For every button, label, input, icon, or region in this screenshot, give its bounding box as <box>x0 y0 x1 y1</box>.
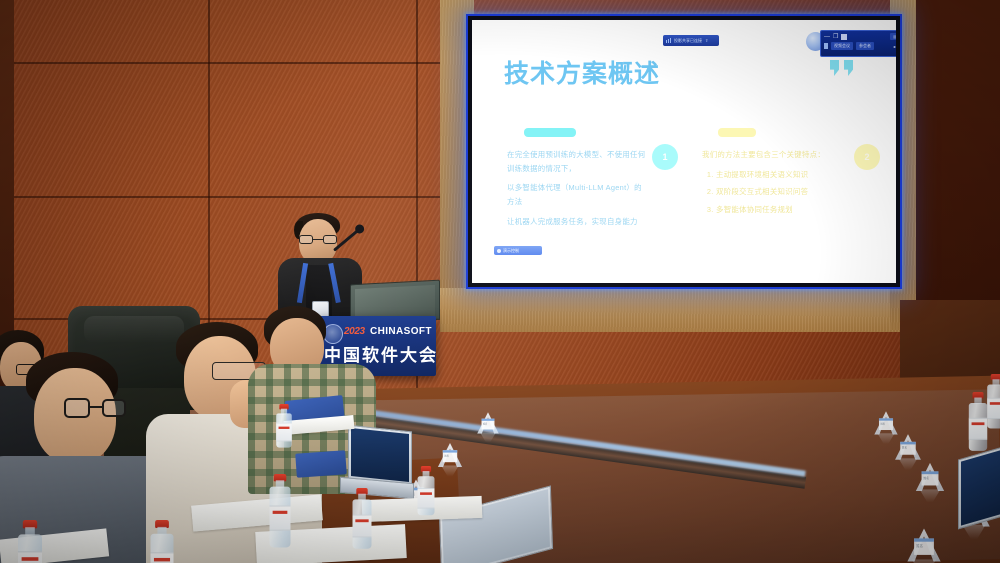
blue-notebook[interactable] <box>295 450 347 477</box>
widget-menu-icon[interactable]: ▤ <box>890 33 896 40</box>
nameplate-card: 姓名 <box>443 450 457 462</box>
glasses-icon <box>298 235 338 244</box>
restore-button[interactable]: ❐ <box>833 34 838 40</box>
video-meeting-chip[interactable]: 视频会议 <box>831 42 853 50</box>
volume-icon[interactable]: ◂◂ <box>890 43 896 50</box>
wall-dark-panel <box>916 0 1000 300</box>
list-item: 双阶段交互式相关知识问答 <box>716 185 830 199</box>
slide-title: 技术方案概述 <box>504 54 660 90</box>
screen-share-status-label: 投影共享已连接 <box>674 38 702 44</box>
widget-toolbar: 视频会议 参会者 ◂◂ <box>824 42 896 50</box>
slide-feature-list: 主动提取环境相关语义知识 双阶段交互式相关知识问答 多智能体协同任务规划 <box>702 168 830 217</box>
close-button[interactable] <box>841 34 847 40</box>
list-item: 主动提取环境相关语义知识 <box>716 168 830 182</box>
microphone-icon[interactable] <box>824 43 828 49</box>
accent-bar-right <box>718 128 756 137</box>
screen-share-status-bar[interactable]: 投影共享已连接 ⇪ <box>663 35 719 46</box>
presentation-control-button[interactable]: 演示控制 <box>494 246 542 255</box>
signal-bars-icon <box>666 38 671 43</box>
badge-number-1: 1 <box>652 144 678 170</box>
slide-paragraph: 让机器人完成服务任务，实现自身能力 <box>507 215 647 229</box>
glasses-icon <box>64 398 126 418</box>
participants-chip[interactable]: 参会者 <box>856 42 874 50</box>
nameplate: 姓名 <box>436 443 465 467</box>
slide-canvas: 技术方案概述 1 2 在完全使用预训练的大模型、不使用任何训练数据的情况下， 以… <box>472 20 896 283</box>
nameplate: 姓名 <box>904 529 944 562</box>
wall-seam <box>208 0 210 330</box>
nameplate-card: 姓名 <box>914 538 934 555</box>
slide-paragraph: 以多智能体代理（Multi-LLM Agent）的方法 <box>507 181 647 208</box>
nameplate-card: 姓名 <box>922 471 939 485</box>
widget-titlebar: — ❐ ▤ <box>824 33 896 40</box>
nameplate: 姓名 <box>913 463 947 491</box>
slide-column-left: 在完全使用预训练的大模型、不使用任何训练数据的情况下， 以多智能体代理（Mult… <box>507 148 647 234</box>
attendee-laptop[interactable] <box>340 428 412 502</box>
nameplate-card: 姓名 <box>482 419 495 430</box>
podium-english-title: CHINASOFT <box>370 326 432 337</box>
nameplate-card: 姓名 <box>879 418 893 430</box>
quote-mark-decoration <box>830 60 853 76</box>
slide-lead-text: 我们的方法主要包含三个关键特点： <box>702 148 830 162</box>
record-dot-icon <box>497 249 501 253</box>
list-item: 多智能体协同任务规划 <box>716 203 830 217</box>
presentation-control-label: 演示控制 <box>503 248 519 254</box>
nameplate: 姓名 <box>893 434 924 460</box>
quote-glyph <box>844 60 853 76</box>
conference-room-photo: 技术方案概述 1 2 在完全使用预训练的大模型、不使用任何训练数据的情况下， 以… <box>0 0 1000 563</box>
display-trim-bottom <box>440 288 920 332</box>
meeting-control-widget[interactable]: — ❐ ▤ 视频会议 参会者 ◂◂ <box>820 30 896 57</box>
quote-glyph <box>830 60 839 76</box>
accent-bar-left <box>524 128 576 137</box>
minimize-button[interactable]: — <box>824 34 830 40</box>
nameplate: 姓名 <box>872 411 900 434</box>
laptop-screen <box>958 445 1000 530</box>
attendee-laptop[interactable] <box>958 452 1000 544</box>
nameplate-card: 姓名 <box>900 442 915 455</box>
laptop-screen <box>348 425 412 486</box>
presentation-display[interactable]: 技术方案概述 1 2 在完全使用预训练的大模型、不使用任何训练数据的情况下， 以… <box>466 14 902 289</box>
badge-number-2: 2 <box>854 144 880 170</box>
slide-column-right: 我们的方法主要包含三个关键特点： 主动提取环境相关语义知识 双阶段交互式相关知识… <box>702 148 830 221</box>
nameplate: 姓名 <box>475 412 501 434</box>
slide-paragraph: 在完全使用预训练的大模型、不使用任何训练数据的情况下， <box>507 148 647 175</box>
share-icon[interactable]: ⇪ <box>705 38 708 43</box>
